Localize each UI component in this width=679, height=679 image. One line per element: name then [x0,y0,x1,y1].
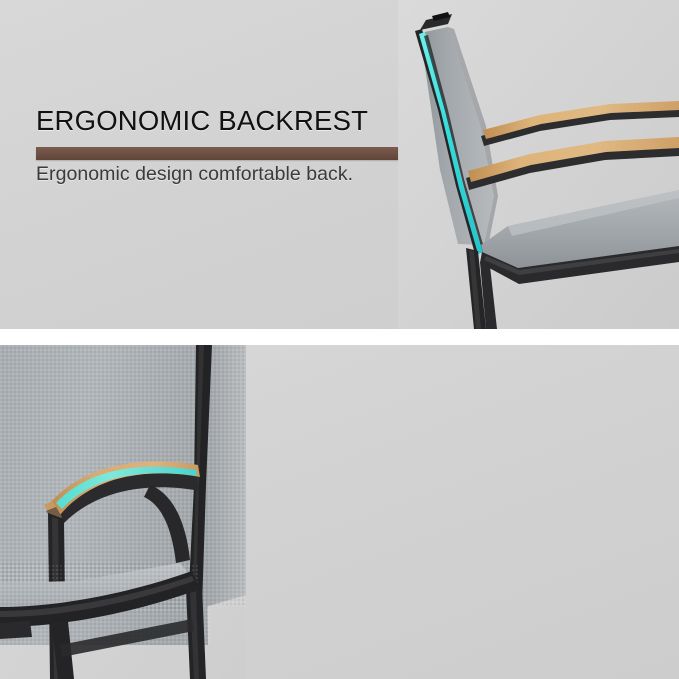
panel-armrests: ERGONOMIC ARMRESTS The curved line that … [0,345,679,679]
backrest-heading: ERGONOMIC BACKREST [36,104,416,138]
chair-backrest-photo [398,0,679,329]
panel-backrest: ERGONOMIC BACKREST Ergonomic design comf… [0,0,679,329]
infographic-root: ERGONOMIC BACKREST Ergonomic design comf… [0,0,679,679]
backrest-heading-underline-bar [36,147,398,160]
backrest-subtitle-line-1: Ergonomic design comfortable back. [36,158,416,191]
backrest-subtitle: Ergonomic design comfortable back. [36,158,416,191]
chair-armrest-photo [0,345,246,679]
backrest-text-block: ERGONOMIC BACKREST Ergonomic design comf… [36,104,416,191]
backrest-heading-wrap: ERGONOMIC BACKREST [36,104,416,138]
panel-divider [0,329,679,345]
